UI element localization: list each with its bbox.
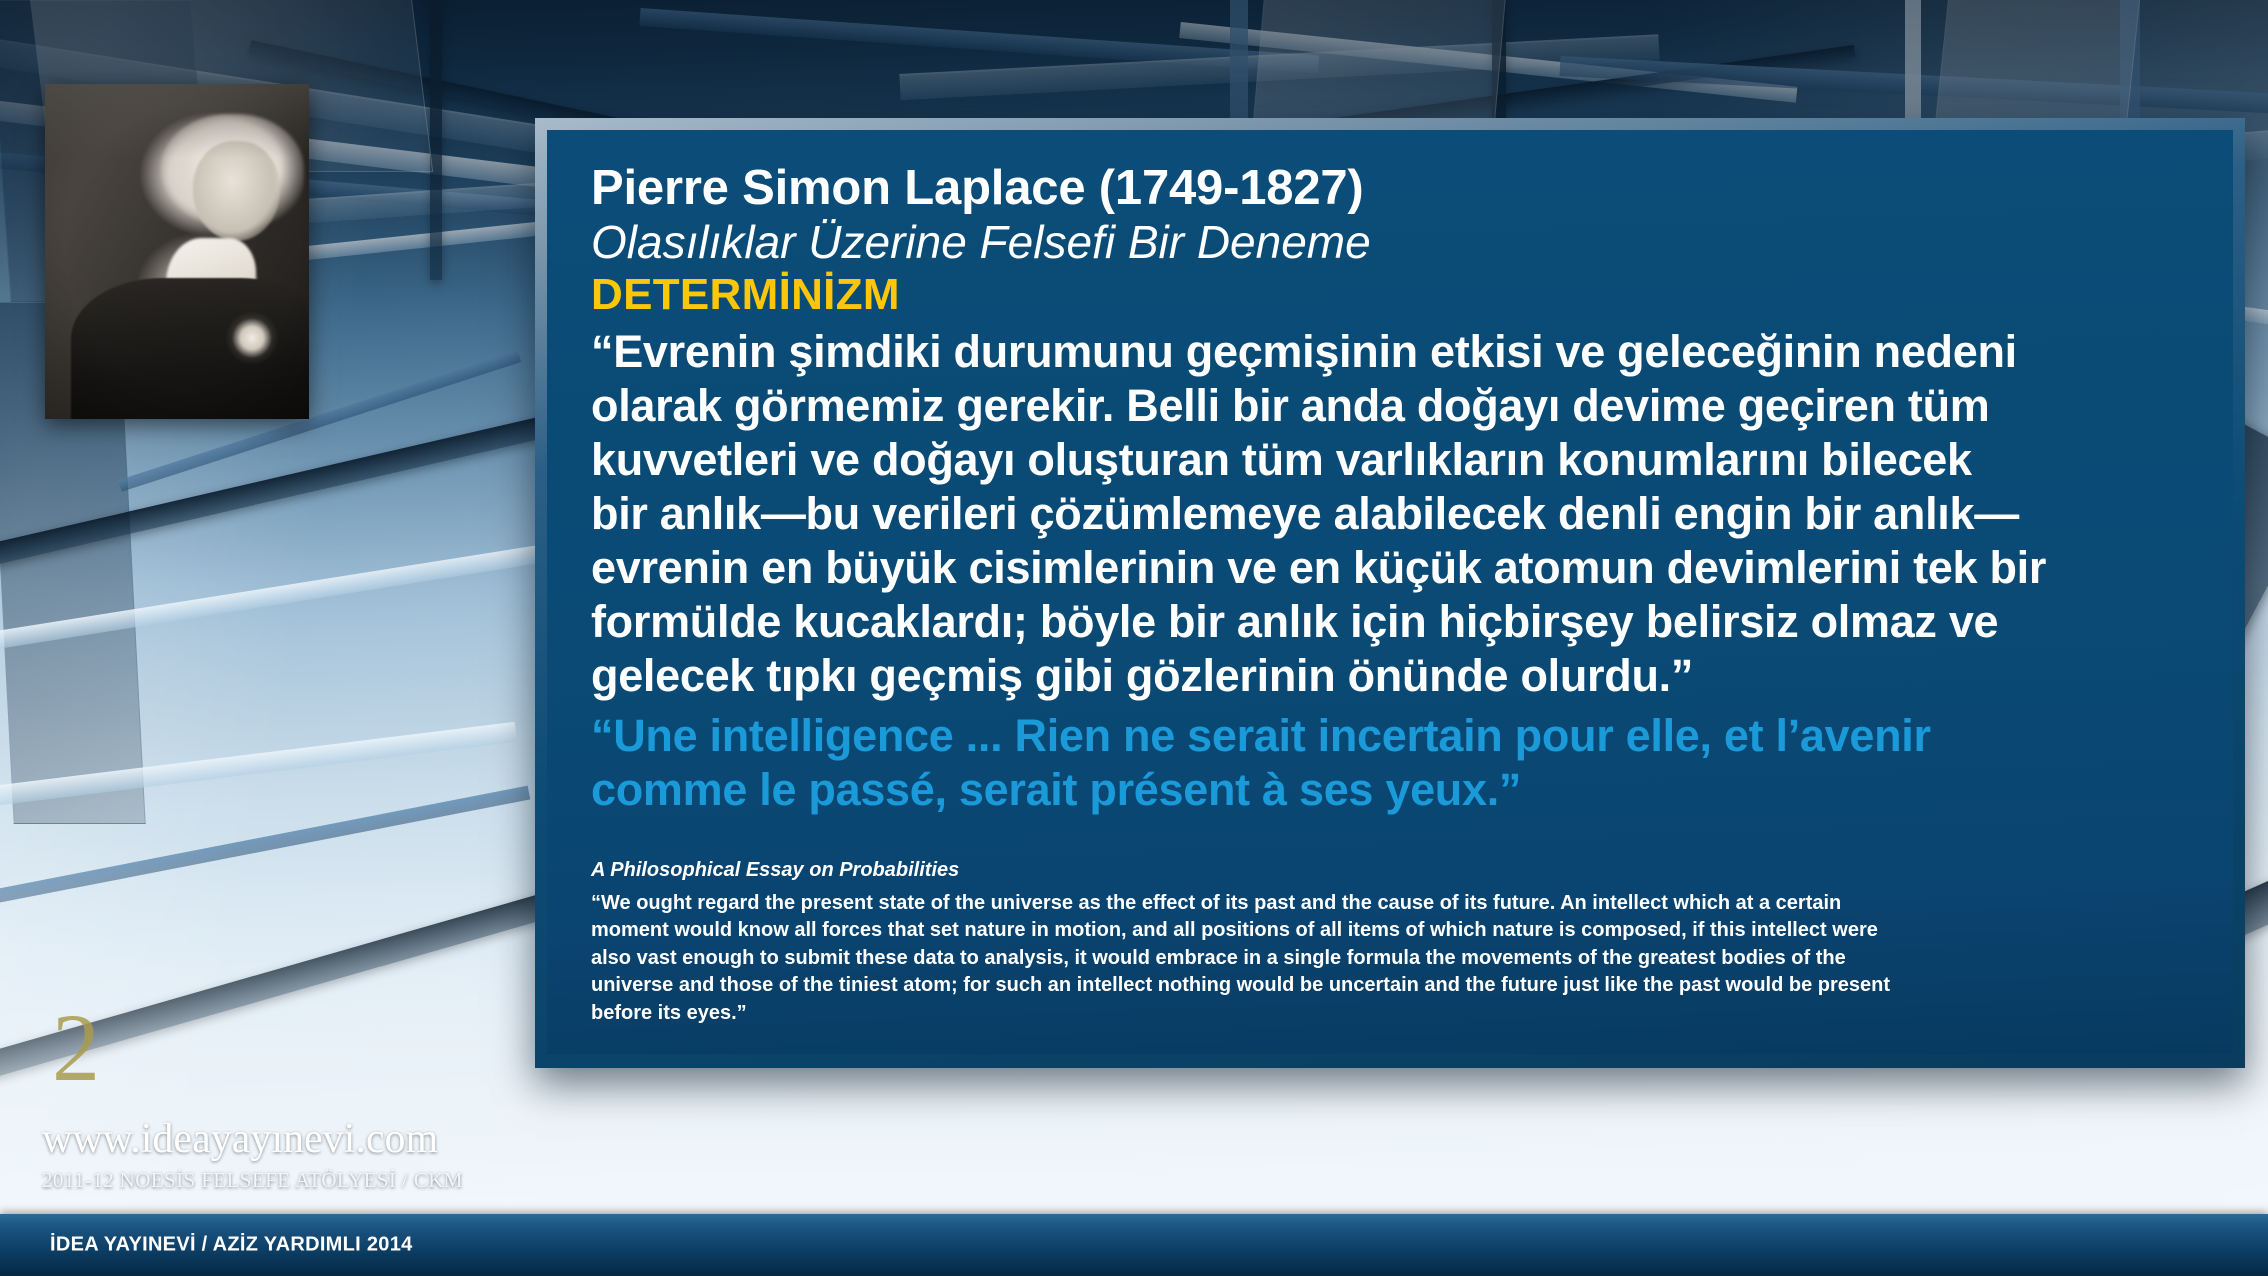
page-subtitle: Olasılıklar Üzerine Felsefi Bir Deneme [591,217,2189,269]
footer-bar: İDEA YAYINEVİ / AZİZ YARDIMLI 2014 [0,1214,2268,1276]
page-title: Pierre Simon Laplace (1749-1827) [591,162,2189,215]
french-quote-line: “Une intelligence ... Rien ne serait inc… [591,709,2189,763]
turkish-quote-line: “Evrenin şimdiki durumunu geçmişinin etk… [591,325,2189,379]
english-source-title: A Philosophical Essay on Probabilities [591,857,2189,883]
topic-kicker: DETERMİNİZM [591,270,2189,320]
turkish-quote-line: bir anlık—bu verileri çözümlemeye alabil… [591,487,2189,541]
english-translation-block: A Philosophical Essay on Probabilities “… [591,857,2189,1028]
slide-root: Pierre Simon Laplace (1749-1827) Olasılı… [0,0,2268,1276]
turkish-quote-line: kuvvetleri ve doğayı oluşturan tüm varlı… [591,433,2189,487]
turkish-quote-line: formülde kucaklardı; böyle bir anlık içi… [591,595,2189,649]
background-beam [1559,56,2268,114]
content-panel-frame: Pierre Simon Laplace (1749-1827) Olasılı… [535,118,2245,1068]
background-mullion [430,0,442,280]
content-panel: Pierre Simon Laplace (1749-1827) Olasılı… [547,130,2233,1054]
turkish-quote: “Evrenin şimdiki durumunu geçmişinin etk… [591,325,2189,703]
website-url[interactable]: www.ideayayınevi.com [42,1118,438,1160]
background-beam [639,8,1319,73]
turkish-quote-line: evrenin en büyük cisimlerinin ve en küçü… [591,541,2189,595]
background-beam [899,34,1659,100]
portrait-vignette [45,84,309,419]
workshop-credit: 2011-12 NOESİS FELSEFE ATÖLYESİ / CKM [42,1170,463,1191]
turkish-quote-line: gelecek tıpkı geçmiş gibi gözlerinin önü… [591,649,2189,703]
english-quote-line: also vast enough to submit these data to… [591,945,2181,973]
background-beam [1179,22,1797,103]
laplace-portrait-image [45,84,309,419]
footer-publisher-text: İDEA YAYINEVİ / AZİZ YARDIMLI 2014 [50,1234,413,1257]
english-quote-line: before its eyes.” [591,1000,2181,1028]
page-number: 2 [52,1000,100,1096]
english-quote-line: universe and those of the tiniest atom; … [591,972,2181,1000]
english-quote-line: moment would know all forces that set na… [591,917,2181,945]
turkish-quote-line: olarak görmemiz gerekir. Belli bir anda … [591,379,2189,433]
french-quote: “Une intelligence ... Rien ne serait inc… [591,709,2189,817]
french-quote-line: comme le passé, serait présent à ses yeu… [591,763,2189,817]
english-quote: “We ought regard the present state of th… [591,890,2181,1028]
english-quote-line: “We ought regard the present state of th… [591,890,2181,918]
